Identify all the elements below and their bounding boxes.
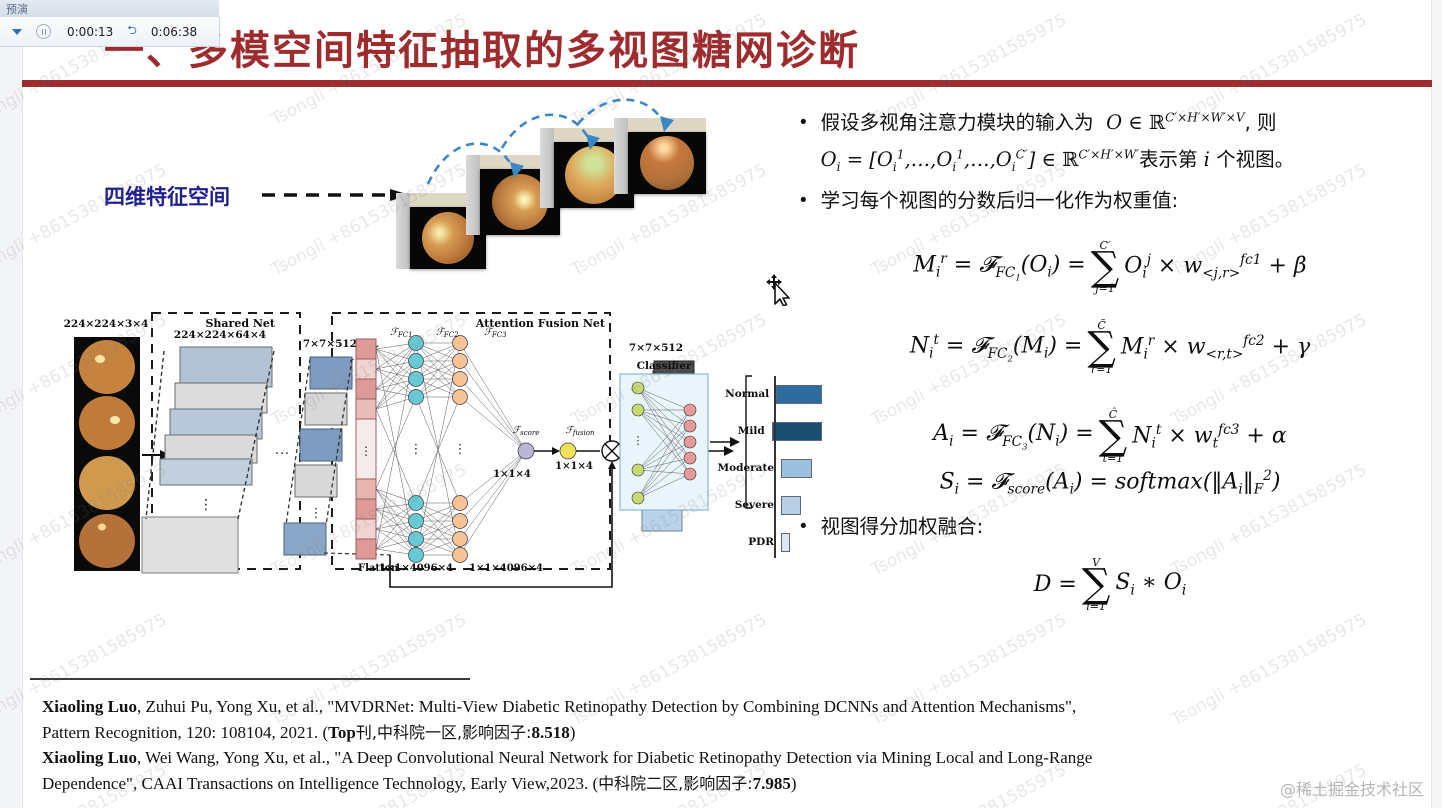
total-time-label: 0:06:38	[151, 25, 197, 39]
ellipsis: ⋮	[410, 441, 423, 456]
media-preview-toolbar[interactable]: 预演 0:00:13 ⮌ 0:06:38	[0, 0, 219, 46]
dashed-arrow-right-icon	[262, 188, 412, 202]
bullet-marker: •	[800, 191, 807, 210]
output-label: Normal	[712, 388, 776, 400]
citation-1-paren: )	[570, 723, 576, 742]
four-dim-space-label: 四维特征空间	[104, 181, 230, 211]
bullet-1-line-2: Oi = [Oi1,…,Oi1,…,OiC′] ∈ ℝC′×H′×W′表示第 i…	[821, 145, 1420, 176]
ellipsis: ⋮	[310, 505, 323, 520]
bullet-1-equation: Oi = [Oi1,…,Oi1,…,OiC′] ∈ ℝC′×H′×W′	[821, 148, 1139, 171]
media-preview-tab[interactable]: 预演	[0, 0, 219, 18]
summation-1: C′ ∑ j=1	[1091, 240, 1120, 295]
flatten-dims-2: 1×1×4096×4	[469, 563, 543, 574]
citation-2-cn: 中科院二区,影响因子:	[598, 774, 752, 793]
score-dims: 1×1×4	[493, 469, 531, 480]
citation-2-line2: Dependence", CAAI Transactions on Intell…	[42, 771, 1372, 797]
citation-1-top-tag: Top	[328, 723, 356, 742]
fusion-label: ℱfusion	[565, 425, 595, 437]
fused-dims-label: 7×7×512	[629, 342, 683, 354]
citation-1-rest: , Zuhui Pu, Yong Xu, et al., "MVDRNet: M…	[137, 697, 1076, 716]
citation-1-impact: 8.518	[531, 723, 569, 742]
summation-4: V ∑ i=1	[1082, 557, 1111, 612]
softmax-label: softmax	[1115, 469, 1203, 494]
conv-dims-label: 224×224×64×4	[174, 329, 266, 341]
citation-2-journal: Dependence", CAAI Transactions on Intell…	[42, 774, 598, 793]
slide-left-margin	[0, 0, 23, 808]
citation-1: Xiaoling Luo, Zuhui Pu, Yong Xu, et al.,…	[42, 694, 1372, 720]
equation-1: Mir = 𝓕FC1(Oi) = C′ ∑ j=1 Oij × w<j,r>fc…	[800, 240, 1420, 295]
ellipsis: ⋮	[633, 435, 644, 447]
citation-2-author: Xiaoling Luo	[42, 748, 137, 767]
bullet-1-math: O ∈ ℝC′×H′×W′×V	[1100, 111, 1245, 134]
right-content-column: • 假设多视角注意力模块的输入为 O ∈ ℝC′×H′×W′×V, 则 Oi =…	[800, 108, 1420, 678]
summation-2: C̃ ∑ r=1	[1087, 320, 1116, 375]
output-label: Mild	[712, 425, 772, 437]
classifier-label: Classifier	[637, 360, 692, 372]
pause-icon[interactable]	[36, 24, 51, 39]
citation-block: Xiaoling Luo, Zuhui Pu, Yong Xu, et al.,…	[42, 694, 1372, 796]
output-label: Severe	[712, 499, 781, 511]
bullet-1-text-post: , 则	[1245, 111, 1277, 134]
bullet-1: • 假设多视角注意力模块的输入为 O ∈ ℝC′×H′×W′×V, 则 Oi =…	[800, 108, 1420, 176]
current-time-label: 0:00:13	[67, 25, 113, 39]
bullet-1-line-1: 假设多视角注意力模块的输入为 O ∈ ℝC′×H′×W′×V, 则	[821, 108, 1420, 137]
corner-watermark: @稀土掘金技术社区	[1280, 776, 1424, 800]
output-bar	[781, 496, 801, 515]
media-preview-tab-label: 预演	[6, 1, 28, 17]
softmax-node	[560, 443, 576, 459]
fc2-label: ℱFC2	[436, 327, 459, 339]
fusion-dims: 1×1×4	[555, 461, 593, 472]
score-label: ℱscore	[513, 425, 540, 437]
loop-icon[interactable]: ⮌	[127, 21, 137, 42]
bullet-marker: •	[800, 113, 807, 132]
bullet-1-tail: 表示第	[1139, 148, 1198, 171]
citation-2-impact: 7.985	[753, 774, 791, 793]
move-pointer-cursor-icon	[766, 272, 796, 306]
ellipsis: ⋮	[360, 444, 372, 458]
fc1-label: ℱFC1	[390, 327, 413, 339]
bullet-2-label: 学习每个视图的分数后归一化作为权重值:	[821, 186, 1179, 215]
citation-1-cn: 刊,中科院一区,影响因子:	[356, 723, 532, 742]
bullet-1-end: 个视图。	[1216, 148, 1294, 171]
cube-side	[396, 193, 410, 269]
summation-3: Ĉ ∑ t=1	[1099, 409, 1128, 464]
slide-header: 一、多模空间特征抽取的多视图糖网诊断	[22, 0, 1432, 88]
slide-canvas: Tsongli +8615381585975Tsongli +861538158…	[0, 0, 1442, 808]
bullet-2: • 学习每个视图的分数后归一化作为权重值:	[800, 186, 1420, 215]
bullet-3: • 视图得分加权融合:	[800, 512, 1420, 541]
bullet-marker: •	[800, 517, 807, 536]
equation-2: Nit = 𝓕FC2(Mi) = C̃ ∑ r=1 Mir × w<r,t>fc…	[800, 320, 1420, 375]
citation-1-author: Xiaoling Luo	[42, 697, 137, 716]
score-node	[518, 443, 534, 459]
input-dims-label: 224×224×3×4	[64, 318, 149, 330]
output-label: Moderate	[712, 462, 781, 474]
output-bar	[781, 533, 790, 552]
chevron-down-icon[interactable]	[12, 29, 22, 35]
citation-2: Xiaoling Luo, Wei Wang, Yong Xu, et al.,…	[42, 745, 1372, 771]
citation-2-paren: )	[791, 774, 797, 793]
citation-1-journal: Pattern Recognition, 120: 108104, 2021. …	[42, 723, 328, 742]
citation-divider	[30, 678, 470, 680]
ellipsis: ⋮	[454, 441, 467, 456]
output-axis	[774, 376, 776, 558]
equation-4: Si = 𝓕score(Ai) = softmax(‖Ai‖F2)	[800, 468, 1420, 498]
dots: ···	[275, 444, 290, 461]
dashed-arc-arrow-icon	[420, 98, 730, 208]
watermark-text: Tsongli +8615381585975	[0, 160, 170, 280]
equation-5: D = V ∑ i=1 Si ∗ Oi	[800, 557, 1420, 612]
citation-2-rest: , Wei Wang, Yong Xu, et al., "A Deep Con…	[137, 748, 1092, 767]
slide-right-margin	[1431, 0, 1442, 808]
output-label: PDR	[712, 536, 781, 548]
bullet-1-text-pre: 假设多视角注意力模块的输入为	[821, 111, 1094, 134]
media-controls-bar[interactable]: 0:00:13 ⮌ 0:06:38	[0, 17, 220, 47]
ellipsis: ⋮	[199, 496, 213, 512]
attention-net-label: Attention Fusion Net	[475, 317, 606, 330]
citation-1-line2: Pattern Recognition, 120: 108104, 2021. …	[42, 720, 1372, 746]
equation-3: Ai = 𝓕FC3(Ni) = Ĉ ∑ t=1 Nit × wtfc3 + α	[800, 409, 1420, 464]
title-underline-rule	[22, 80, 1432, 87]
bullet-3-label: 视图得分加权融合:	[821, 512, 984, 541]
